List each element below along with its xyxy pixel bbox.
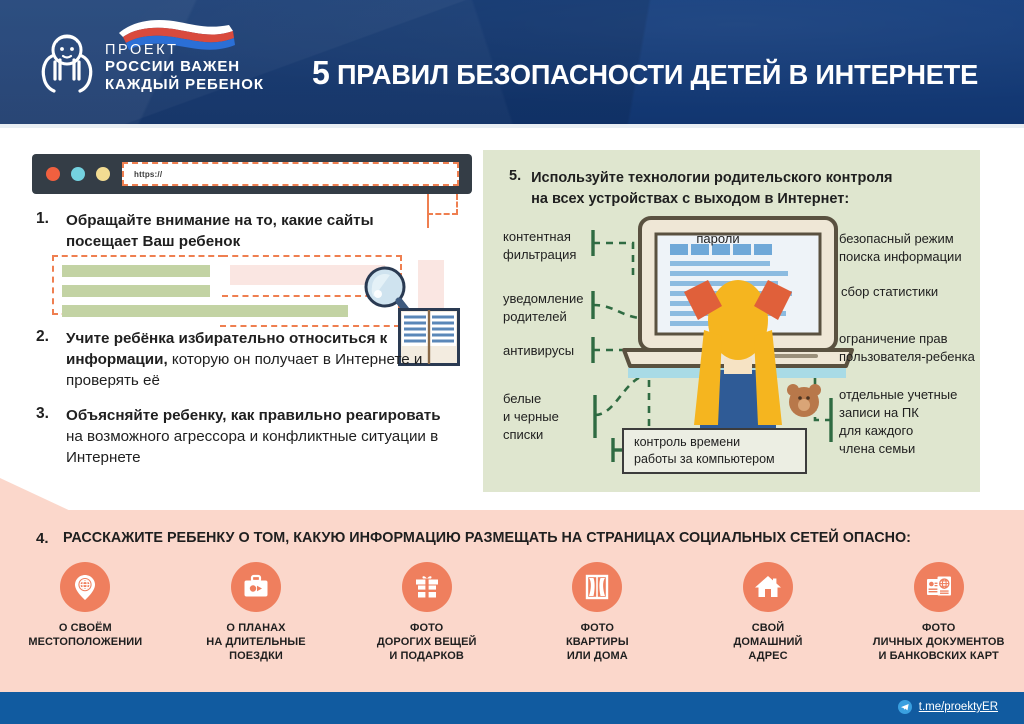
telegram-link[interactable]: t.me/proektyER	[898, 700, 998, 714]
rule-item-2: 2. Учите ребёнка избирательно относиться…	[36, 328, 436, 391]
time-control-line-1: контроль времени	[634, 434, 805, 451]
browser-dot-red	[46, 167, 60, 181]
rule-3-text: Объясняйте ребенку, как правильно реагир…	[66, 405, 446, 468]
diagram-label-safe-search: безопасный режим поиска информации	[839, 230, 979, 266]
rule-5-line-1: Используйте технологии родительского кон…	[531, 168, 892, 189]
social-network-warning-section: 4. РАССКАЖИТЕ РЕБЕНКУ О ТОМ, КАКУЮ ИНФОР…	[0, 510, 1024, 692]
browser-dot-yellow	[96, 167, 110, 181]
footer-bar: t.me/proektyER	[0, 692, 1024, 724]
window-curtains-icon	[572, 562, 622, 612]
diagram-label-white-black-lists: белые и черные списки	[503, 390, 593, 444]
rule-5-number: 5.	[509, 168, 521, 210]
page-title: 5 ПРАВИЛ БЕЗОПАСНОСТИ ДЕТЕЙ В ИНТЕРНЕТЕ	[312, 54, 972, 92]
diagram-label-user-restrictions: ограничение прав пользователя-ребенка	[839, 330, 981, 366]
danger-caption-documents: ФОТО ЛИЧНЫХ ДОКУМЕНТОВ И БАНКОВСКИХ КАРТ	[873, 621, 1005, 663]
telegram-link-text: t.me/proektyER	[919, 701, 998, 713]
suitcase-icon	[231, 562, 281, 612]
location-pin-globe-icon	[60, 562, 110, 612]
child-in-hands-icon	[38, 26, 96, 94]
rule-1-bold: Обращайте внимание на то, какие сайты по…	[66, 212, 374, 250]
left-rules-panel: https:// 1. Обращайте внимание на то, ка…	[0, 128, 484, 520]
browser-window-mock: https://	[32, 154, 472, 194]
danger-caption-address: СВОЙ ДОМАШНИЙ АДРЕС	[733, 621, 802, 663]
rule-2-text: Учите ребёнка избирательно относиться к …	[66, 328, 436, 391]
browser-url-text: https://	[134, 170, 162, 179]
danger-caption-travel: О ПЛАНАХ НА ДЛИТЕЛЬНЫЕ ПОЕЗДКИ	[206, 621, 305, 663]
browser-connector-dashed	[427, 194, 458, 215]
content-green-bar-3	[62, 305, 348, 317]
infographic-page: ПРОЕКТ РОССИИ ВАЖЕН КАЖДЫЙ РЕБЕНОК 5 ПРА…	[0, 0, 1024, 724]
diagram-time-control-box: контроль времени работы за компьютером	[622, 428, 807, 474]
rule-3-rest: на возможного агрессора и конфликтные си…	[66, 428, 438, 466]
diagram-label-separate-accounts: отдельные учетные записи на ПК для каждо…	[839, 386, 979, 458]
diagram-label-antivirus: антивирусы	[503, 342, 598, 360]
header-banner: ПРОЕКТ РОССИИ ВАЖЕН КАЖДЫЙ РЕБЕНОК 5 ПРА…	[0, 0, 1024, 124]
rule-2-number: 2.	[36, 328, 54, 391]
danger-caption-apartment: ФОТО КВАРТИРЫ ИЛИ ДОМА	[566, 621, 629, 663]
danger-item-address[interactable]: СВОЙ ДОМАШНИЙ АДРЕС	[683, 562, 854, 663]
logo-line-1: ПРОЕКТ	[105, 43, 264, 58]
danger-item-documents[interactable]: ФОТО ЛИЧНЫХ ДОКУМЕНТОВ И БАНКОВСКИХ КАРТ	[853, 562, 1024, 663]
project-logo: ПРОЕКТ РОССИИ ВАЖЕН КАЖДЫЙ РЕБЕНОК	[38, 26, 264, 94]
rule-4-text: РАССКАЖИТЕ РЕБЕНКУ О ТОМ, КАКУЮ ИНФОРМАЦ…	[63, 530, 911, 547]
rule-item-1: 1. Обращайте внимание на то, какие сайты…	[36, 210, 416, 252]
rule-item-3: 3. Объясняйте ребенку, как правильно реа…	[36, 405, 446, 468]
browser-address-bar[interactable]: https://	[122, 162, 459, 186]
logo-line-2: РОССИИ ВАЖЕН	[105, 58, 264, 76]
page-title-text: ПРАВИЛ БЕЗОПАСНОСТИ ДЕТЕЙ В ИНТЕРНЕТЕ	[330, 59, 978, 90]
diagram-label-parent-notification: уведомление родителей	[503, 290, 603, 326]
browser-dot-cyan	[71, 167, 85, 181]
diagram-label-passwords: пароли	[683, 230, 753, 248]
diagram-label-content-filtering: контентная фильтрация	[503, 228, 595, 264]
page-title-number: 5	[312, 54, 330, 91]
house-icon	[743, 562, 793, 612]
danger-item-location[interactable]: О СВОЁМ МЕСТОПОЛОЖЕНИИ	[0, 562, 171, 663]
parental-control-panel: 5. Используйте технологии родительского …	[483, 150, 980, 492]
danger-item-gifts[interactable]: ФОТО ДОРОГИХ ВЕЩЕЙ И ПОДАРКОВ	[341, 562, 512, 663]
rule-4-number: 4.	[36, 530, 49, 547]
rule-item-4: 4. РАССКАЖИТЕ РЕБЕНКУ О ТОМ, КАКУЮ ИНФОР…	[36, 530, 923, 547]
rule-1-number: 1.	[36, 210, 54, 252]
rule-5-text: Используйте технологии родительского кон…	[531, 168, 892, 210]
danger-caption-gifts: ФОТО ДОРОГИХ ВЕЩЕЙ И ПОДАРКОВ	[377, 621, 477, 663]
telegram-icon	[898, 700, 912, 714]
danger-icon-row: О СВОЁМ МЕСТОПОЛОЖЕНИИ О ПЛАНАХ НА ДЛИТЕ…	[0, 562, 1024, 663]
content-green-bar-1	[62, 265, 210, 277]
rule-item-5: 5. Используйте технологии родительского …	[509, 168, 893, 210]
rule-5-line-2: на всех устройствах с выходом в Интернет…	[531, 189, 892, 210]
time-control-line-2: работы за компьютером	[634, 451, 805, 468]
danger-item-apartment[interactable]: ФОТО КВАРТИРЫ ИЛИ ДОМА	[512, 562, 683, 663]
diagram-label-statistics: сбор статистики	[841, 283, 971, 301]
logo-line-3: КАЖДЫЙ РЕБЕНОК	[105, 76, 264, 94]
rule-1-text: Обращайте внимание на то, какие сайты по…	[66, 210, 416, 252]
passport-documents-icon	[914, 562, 964, 612]
gift-box-icon	[402, 562, 452, 612]
rule-3-number: 3.	[36, 405, 54, 468]
rule-3-bold: Объясняйте ребенку, как правильно реагир…	[66, 407, 441, 424]
content-green-bar-2	[62, 285, 210, 297]
danger-item-travel[interactable]: О ПЛАНАХ НА ДЛИТЕЛЬНЫЕ ПОЕЗДКИ	[171, 562, 342, 663]
danger-caption-location: О СВОЁМ МЕСТОПОЛОЖЕНИИ	[28, 621, 142, 649]
